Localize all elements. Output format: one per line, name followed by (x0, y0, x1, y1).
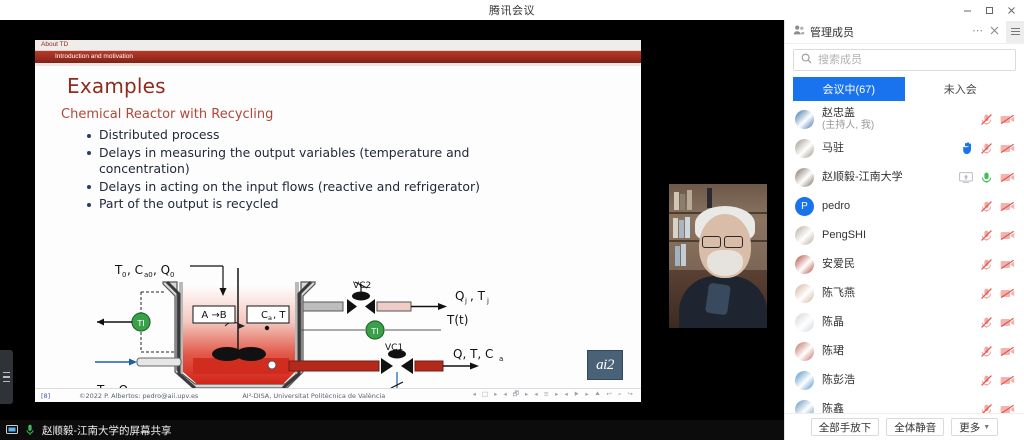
webcam-video (669, 184, 767, 328)
microphone-muted-icon[interactable] (980, 113, 993, 126)
svg-text:TI: TI (370, 327, 378, 336)
participant-name: pedro (822, 200, 850, 213)
slide-bullet: Part of the output is recycled (87, 196, 547, 213)
svg-text:A →B: A →B (201, 310, 226, 321)
ai2-logo: ai2 (587, 350, 623, 380)
participant-status-icons (980, 403, 1015, 413)
camera-off-icon[interactable] (1000, 201, 1015, 212)
microphone-muted-icon[interactable] (980, 345, 993, 358)
camera-off-icon[interactable] (1000, 288, 1015, 299)
slide-bullet: Delays in measuring the output variables… (87, 145, 547, 178)
slide-page-number: [8] (35, 392, 61, 400)
mute-all-button[interactable]: 全体静音 (886, 418, 944, 436)
raise-hand-icon (962, 142, 973, 155)
camera-off-icon[interactable] (1000, 143, 1015, 154)
chevron-down-icon: ▼ (983, 424, 990, 431)
slide-header-top: About TD (35, 40, 641, 51)
camera-off-icon[interactable] (1000, 404, 1015, 413)
panel-tabs: 会议中(67) 未入会 (793, 77, 1016, 101)
participant-row[interactable]: 陈晶 (785, 308, 1024, 337)
avatar (795, 284, 814, 303)
svg-text:C: C (261, 310, 268, 321)
participant-row[interactable]: 陈珺 (785, 337, 1024, 366)
avatar (795, 400, 814, 413)
panel-title: 管理成员 (810, 24, 854, 40)
close-icon[interactable] (1000, 1, 1022, 19)
slide-copyright: ©2022 P. Albertos: pedro@aii.upv.es (61, 392, 198, 400)
window-titlebar: 腾讯会议 (0, 0, 1024, 20)
participant-name: 陈珺 (822, 345, 844, 358)
microphone-muted-icon[interactable] (980, 258, 993, 271)
svg-text:j: j (486, 297, 489, 305)
camera-off-icon[interactable] (1000, 346, 1015, 357)
tab-not-joined[interactable]: 未入会 (905, 77, 1017, 101)
microphone-muted-icon[interactable] (980, 403, 993, 413)
participant-name-text: 陈晶 (822, 316, 844, 329)
participant-name-text: 陈珺 (822, 345, 844, 358)
mute-all-label: 全体静音 (894, 420, 936, 435)
panel-header: 管理成员 ⋯ (785, 20, 1024, 44)
avatar (795, 110, 814, 129)
avatar (795, 139, 814, 158)
avatar (795, 226, 814, 245)
slide-footer: [8] ©2022 P. Albertos: pedro@aii.upv.es … (35, 388, 641, 402)
participant-name-text: 陈飞燕 (822, 287, 855, 300)
shared-screen-stage: About TD Introduction and motivation Exa… (0, 20, 784, 420)
app-root: 腾讯会议 About TD Introduction and motivatio… (0, 0, 1024, 440)
ai2-logo-text: ai2 (596, 358, 614, 373)
participant-name: 赵顺毅-江南大学 (822, 171, 903, 184)
participant-name: 陈鑫 (822, 403, 844, 413)
participants-panel: 管理成员 ⋯ 会议中(67) 未入会 赵忠盖(主 (784, 20, 1024, 440)
participant-status-icons (980, 345, 1015, 358)
svg-text:a: a (499, 355, 503, 363)
microphone-on-icon[interactable] (980, 171, 993, 184)
figure-label-Tt: T(t) (446, 313, 468, 327)
search-icon (801, 53, 812, 67)
svg-text:Q: Q (455, 289, 464, 303)
svg-text:a0: a0 (144, 271, 153, 279)
webcam-thumbnail[interactable] (669, 184, 767, 328)
valve-vc1-label: VC1 (385, 343, 403, 353)
slide-bullet: Distributed process (87, 127, 547, 144)
valve-vc2-label: VC2 (353, 281, 371, 291)
svg-text:, T: , T (273, 310, 286, 321)
participant-name-text: pedro (822, 200, 850, 213)
slide-body: Examples Chemical Reactor with Recycling… (35, 66, 641, 402)
participant-row[interactable]: 陈鑫 (785, 395, 1024, 413)
participant-status-icons (980, 200, 1015, 213)
slide-bullet-list: Distributed process Delays in measuring … (35, 122, 641, 213)
camera-off-icon[interactable] (1000, 375, 1015, 386)
panel-footer: 全部手放下 全体静音 更多 ▼ (785, 413, 1024, 440)
participant-status-icons (980, 258, 1015, 271)
participant-status-icons (980, 374, 1015, 387)
chemical-reactor-diagram: T 0 , C a0 , Q 0 T j0 , Q j0 (75, 262, 595, 402)
tab-in-meeting[interactable]: 会议中(67) (793, 77, 905, 101)
participant-name-text: 陈鑫 (822, 403, 844, 413)
participant-name-text: 马驻 (822, 142, 844, 155)
slide-title: Examples (35, 74, 641, 98)
participant-name-text: 安爱民 (822, 258, 855, 271)
hamburger-icon (3, 370, 10, 384)
participant-name: PengSHI (822, 229, 866, 242)
participant-status-icons (962, 142, 1015, 155)
participant-status-icons (980, 229, 1015, 242)
microphone-muted-icon[interactable] (980, 142, 993, 155)
participant-name: 陈飞燕 (822, 287, 855, 300)
slide-affiliation: AI²-DISA, Universitat Politècnica de Val… (198, 392, 385, 400)
svg-text:, C: , C (127, 263, 143, 277)
more-button[interactable]: 更多 ▼ (951, 418, 998, 436)
avatar: P (795, 197, 814, 216)
camera-off-icon[interactable] (1000, 259, 1015, 270)
slide-subtitle: Chemical Reactor with Recycling (35, 98, 641, 122)
participant-name-text: 赵顺毅-江南大学 (822, 171, 903, 184)
svg-text:j: j (464, 297, 467, 305)
participant-name: 安爱民 (822, 258, 855, 271)
participant-row[interactable]: 赵忠盖(主持人, 我) (785, 105, 1024, 134)
avatar (795, 255, 814, 274)
sidebar-drawer-handle[interactable] (0, 350, 13, 404)
slide-header-top-label: About TD (35, 42, 68, 49)
participant-name: 赵忠盖(主持人, 我) (822, 107, 874, 131)
microphone-icon (24, 424, 36, 436)
svg-text:a: a (268, 314, 272, 322)
participant-status-icons (980, 287, 1015, 300)
slide-bullet: Delays in acting on the input flows (rea… (87, 179, 547, 196)
participant-role-note: (主持人, 我) (822, 120, 874, 132)
microphone-muted-icon[interactable] (980, 229, 993, 242)
participant-row[interactable]: 陈彭浩 (785, 366, 1024, 395)
camera-off-icon[interactable] (1000, 114, 1015, 125)
window-title: 腾讯会议 (489, 2, 535, 18)
svg-text:, T: , T (470, 289, 486, 303)
search-area (785, 44, 1024, 77)
participant-list[interactable]: 赵忠盖(主持人, 我)马驻赵顺毅-江南大学PpedroPengSHI安爱民陈飞燕… (785, 101, 1024, 413)
participant-name-text: 赵忠盖 (822, 107, 874, 120)
lower-all-hands-label: 全部手放下 (819, 420, 872, 435)
close-icon[interactable] (990, 26, 999, 38)
members-icon (793, 24, 805, 39)
svg-text:0: 0 (170, 271, 174, 279)
screen-share-icon (6, 424, 18, 436)
svg-text:TI: TI (136, 319, 144, 328)
presentation-slide: About TD Introduction and motivation Exa… (35, 40, 641, 402)
hamburger-menu-icon[interactable] (1006, 21, 1024, 43)
participant-row[interactable]: 陈飞燕 (785, 279, 1024, 308)
participant-name-text: 陈彭浩 (822, 374, 855, 387)
microphone-muted-icon[interactable] (980, 200, 993, 213)
svg-text:, Q: , Q (153, 263, 170, 277)
maximize-icon[interactable] (978, 1, 1000, 19)
avatar (795, 313, 814, 332)
camera-off-icon[interactable] (1000, 317, 1015, 328)
lower-all-hands-button[interactable]: 全部手放下 (811, 418, 880, 436)
svg-text:Q, T, C: Q, T, C (453, 347, 493, 361)
participant-row[interactable]: 安爱民 (785, 250, 1024, 279)
search-box[interactable] (793, 49, 1016, 71)
screen-share-status-bar: 赵顺毅-江南大学的屏幕共享 (0, 420, 784, 440)
share-status-label: 赵顺毅-江南大学的屏幕共享 (42, 423, 172, 438)
camera-off-icon[interactable] (1000, 230, 1015, 241)
slide-header-bar: Introduction and motivation (35, 51, 641, 63)
window-controls (956, 0, 1022, 20)
camera-off-icon[interactable] (1000, 172, 1015, 183)
microphone-muted-icon[interactable] (980, 287, 993, 300)
search-input[interactable] (818, 54, 1008, 66)
participant-status-icons (959, 171, 1015, 184)
participant-row[interactable]: 马驻 (785, 134, 1024, 163)
participant-row[interactable]: Ppedro (785, 192, 1024, 221)
more-horizontal-icon[interactable]: ⋯ (972, 26, 983, 37)
microphone-muted-icon[interactable] (980, 374, 993, 387)
participant-status-icons (980, 113, 1015, 126)
more-label: 更多 (959, 420, 980, 435)
participant-status-icons (980, 316, 1015, 329)
avatar (795, 342, 814, 361)
participant-name: 陈彭浩 (822, 374, 855, 387)
participant-row[interactable]: PengSHI (785, 221, 1024, 250)
avatar (795, 168, 814, 187)
microphone-muted-icon[interactable] (980, 316, 993, 329)
screen-share-icon (959, 172, 973, 183)
slide-header-bar-label: Introduction and motivation (35, 54, 133, 61)
avatar (795, 371, 814, 390)
participant-name: 马驻 (822, 142, 844, 155)
svg-text:0: 0 (122, 271, 126, 279)
participant-name: 陈晶 (822, 316, 844, 329)
participant-name-text: PengSHI (822, 229, 866, 242)
participant-row[interactable]: 赵顺毅-江南大学 (785, 163, 1024, 192)
slide-nav-controls[interactable]: ◂ □ ▸ ◂ 🗗 ▸ ◂ ≡ ▸ ◂ ⯈ ▸ ⯅ ↩ ⌕ ↪ (473, 390, 641, 401)
minimize-icon[interactable] (956, 1, 978, 19)
